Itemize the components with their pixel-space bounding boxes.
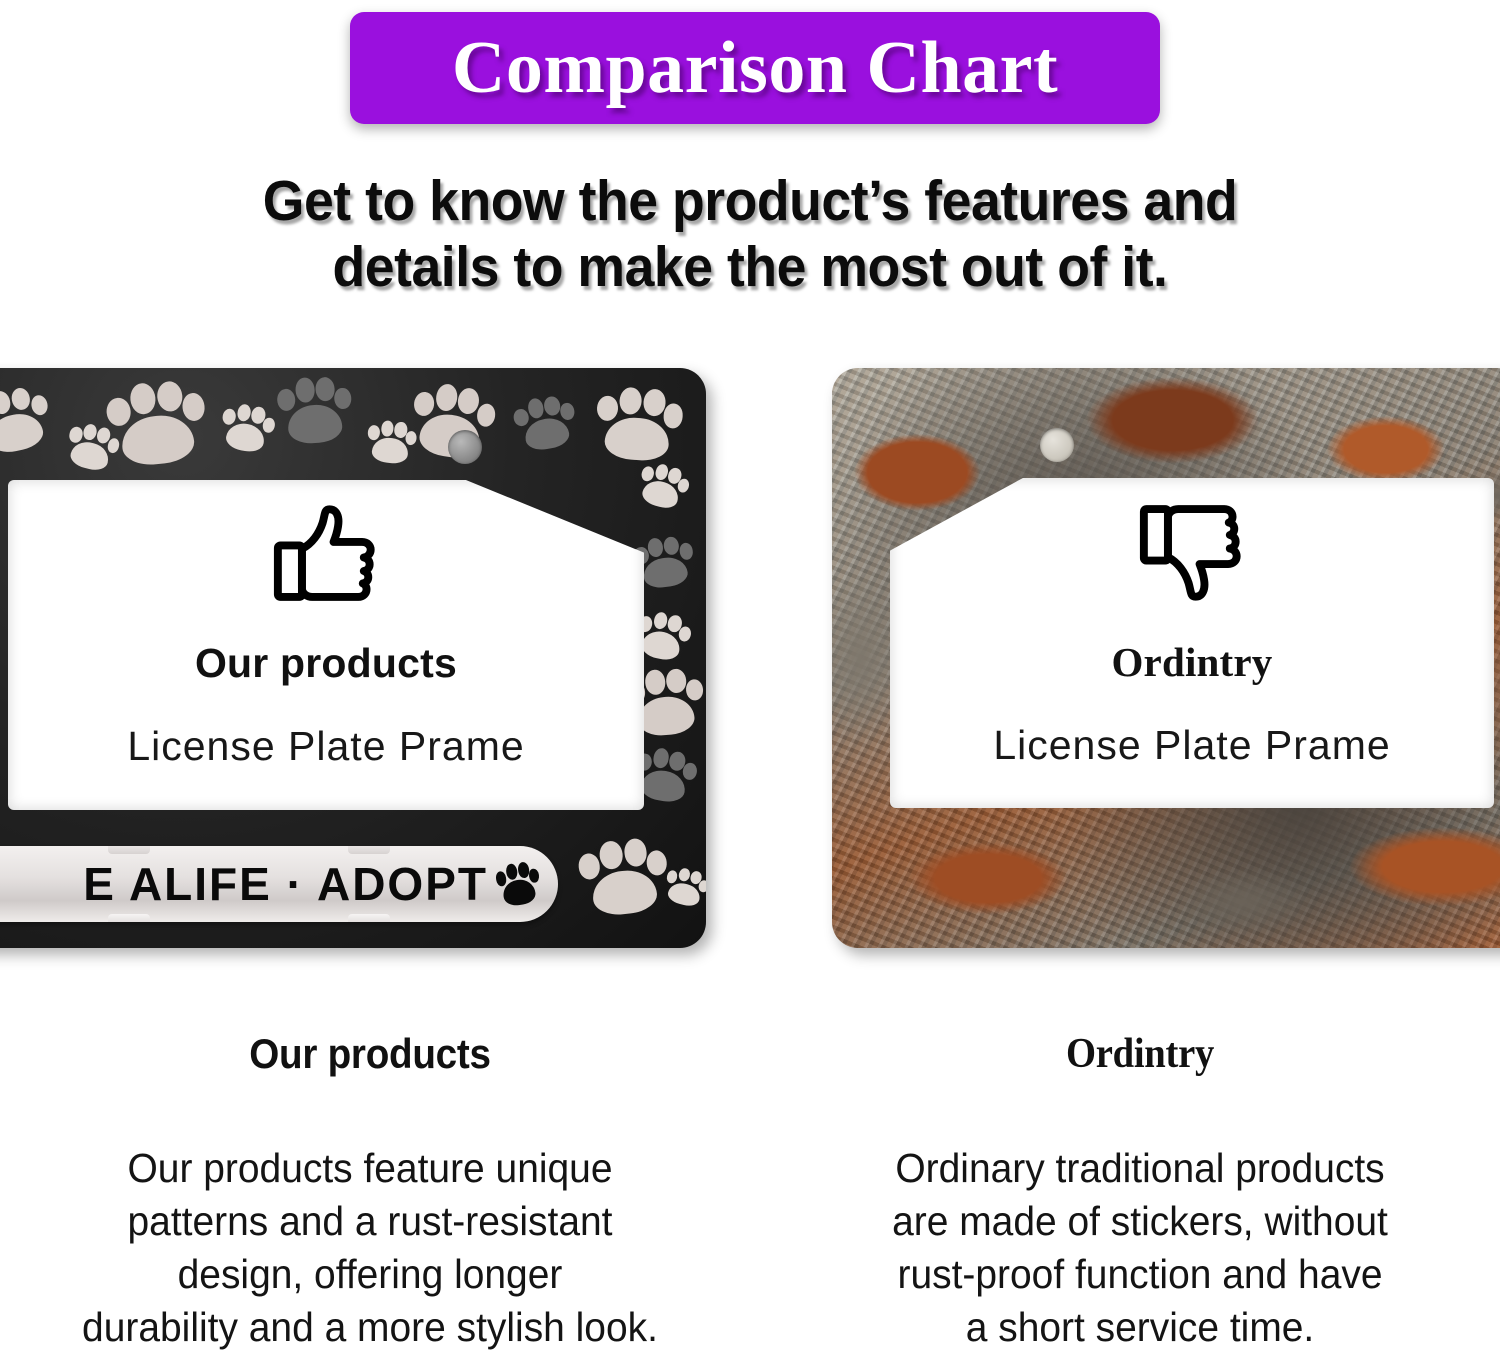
description-line: are made of stickers, without (808, 1195, 1473, 1248)
paw-print-icon (216, 400, 278, 457)
description-body: Ordinary traditional products are made o… (808, 1142, 1473, 1354)
description-line: a short service time. (808, 1301, 1473, 1354)
screw-hole (1040, 428, 1074, 462)
paw-print-icon (493, 859, 543, 909)
subtitle-line-1: Get to know the product’s features and (45, 168, 1455, 234)
our-product-frame: Our products License Plate Prame E ALIFE… (0, 368, 706, 948)
description-line: design, offering longer (38, 1248, 703, 1301)
title-banner: Comparison Chart (350, 12, 1160, 124)
paw-print-icon (0, 381, 56, 459)
rusty-license-plate-frame: Ordintry License Plate Prame (832, 368, 1500, 948)
plate-opening: Our products License Plate Prame (8, 480, 644, 810)
paw-print-icon (274, 373, 355, 446)
paw-print-icon (102, 375, 210, 471)
black-paw-license-plate-frame: Our products License Plate Prame E ALIFE… (0, 368, 706, 948)
description-title: Ordintry (818, 1030, 1462, 1078)
subtitle: Get to know the product’s features and d… (45, 168, 1455, 300)
plate-strip-text: E ALIFE · ADOPT (83, 857, 488, 911)
ordinary-product-card-content: Ordintry License Plate Prame (890, 478, 1494, 808)
description-line: Ordinary traditional products (808, 1142, 1473, 1195)
paw-print-icon (633, 458, 693, 514)
subtitle-line-2: details to make the most out of it. (45, 234, 1455, 300)
paw-print-icon (574, 834, 672, 921)
plate-opening: Ordintry License Plate Prame (890, 478, 1494, 808)
screw-hole (448, 430, 482, 464)
description-body: Our products feature unique patterns and… (38, 1142, 703, 1354)
thumbs-up-icon (271, 502, 381, 606)
our-product-description: Our products Our products feature unique… (20, 1030, 720, 1354)
our-product-card-content: Our products License Plate Prame (8, 480, 644, 810)
comparison-chart-page: Comparison Chart Get to know the product… (0, 0, 1500, 1364)
page-title: Comparison Chart (452, 26, 1058, 111)
description-line: patterns and a rust-resistant (38, 1195, 703, 1248)
ordinary-product-frame: Ordintry License Plate Prame (832, 368, 1500, 948)
description-title: Our products (48, 1030, 692, 1078)
paw-print-icon (510, 391, 580, 455)
thumbs-down-icon (1137, 500, 1247, 604)
license-plate-strip: E ALIFE · ADOPT (0, 846, 558, 922)
paw-print-icon (591, 383, 684, 465)
description-line: durability and a more stylish look. (38, 1301, 703, 1354)
description-line: Our products feature unique (38, 1142, 703, 1195)
description-line: rust-proof function and have (808, 1248, 1473, 1301)
product-subheading: License Plate Prame (993, 722, 1390, 769)
product-heading: Our products (195, 640, 457, 687)
product-subheading: License Plate Prame (127, 723, 524, 770)
ordinary-product-description: Ordintry Ordinary traditional products a… (790, 1030, 1490, 1354)
product-heading: Ordintry (1111, 638, 1272, 686)
